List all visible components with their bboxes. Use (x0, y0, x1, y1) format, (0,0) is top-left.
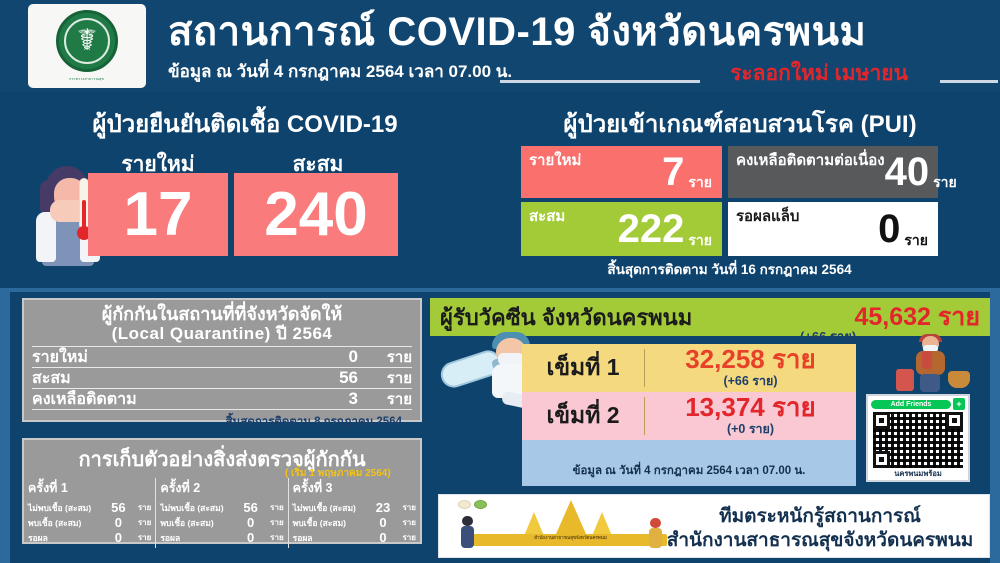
lq-row-value: 3 (304, 389, 358, 409)
dose-label: เข็มที่ 2 (522, 398, 644, 434)
sample-row-value: 56 (105, 500, 131, 515)
data-timestamp: ข้อมูล ณ วันที่ 4 กรกฎาคม 2564 เวลา 07.0… (168, 58, 512, 85)
dose-figures: 32,258 ราย (+66 ราย) (645, 346, 856, 390)
qr-card-header: Add Friends + (868, 396, 968, 410)
sample-row-label: รอผล (293, 531, 370, 545)
caduceus-glyph: ☤ (77, 26, 97, 56)
table-row: รายใหม่ 0 ราย (32, 346, 412, 367)
pui-remaining-value: 40 (885, 152, 930, 192)
add-friends-button[interactable]: Add Friends (871, 400, 951, 409)
sample-row-unit: ราย (131, 501, 151, 514)
vaccine-banner-value: 45,632 ราย (854, 297, 980, 337)
dose-value: 32,258 ราย (685, 344, 816, 374)
local-quarantine-title-line2: (Local Quarantine) ปี 2564 (24, 324, 420, 343)
dose-value: 13,374 ราย (685, 392, 816, 422)
sample-row-unit: ราย (396, 501, 416, 514)
lq-row-label: คงเหลือติดตาม (32, 387, 304, 412)
table-row: คงเหลือติดตาม 3 ราย (32, 388, 412, 409)
table-row: เข็มที่ 1 32,258 ราย (+66 ราย) (522, 344, 856, 392)
round-header: ครั้งที่ 1 (28, 478, 151, 498)
list-item: ไม่พบเชื้อ (สะสม) 56 ราย (160, 500, 283, 515)
sample-row-value: 0 (105, 530, 131, 545)
local-quarantine-footer: สิ้นสุดการติดตาม 8 กรกฎาคม 2564 (32, 409, 412, 431)
lq-row-value: 0 (304, 347, 358, 367)
pui-remaining-unit: ราย (933, 172, 957, 194)
sample-round-2: ครั้งที่ 2 ไม่พบเชื้อ (สะสม) 56 ราย พบเช… (155, 478, 287, 548)
pui-new-label: รายใหม่ (529, 148, 581, 172)
sample-row-value: 56 (238, 500, 264, 515)
sample-row-label: รอผล (28, 531, 105, 545)
local-quarantine-panel: ผู้กักกันในสถานที่ที่จังหวัดจัดให้ (Loca… (22, 298, 422, 422)
list-item: รอผล 0 ราย (293, 530, 416, 545)
sample-collection-panel: การเก็บตัวอย่างสิ่งส่งตรวจผู้กักกัน ครั้… (22, 438, 422, 544)
pui-remaining-card: คงเหลือติดตามต่อเนื่อง 40 ราย (728, 146, 938, 198)
local-quarantine-rows: รายใหม่ 0 ราย สะสม 56 ราย คงเหลือติดตาม … (32, 346, 412, 409)
dose-delta: (+0 ราย) (727, 422, 774, 436)
vaccine-banner-label: ผู้รับวัคซีน จังหวัดนครพนม (440, 300, 692, 335)
pui-cumulative-value: 222 (618, 209, 685, 249)
list-item: รอผล 0 ราย (28, 530, 151, 545)
left-edge-stripe (0, 292, 10, 563)
footer-line-2: สำนักงานสาธารณสุขจังหวัดนครพนม (660, 529, 980, 553)
qr-code-icon[interactable] (873, 412, 963, 468)
sample-row-unit: ราย (396, 516, 416, 529)
pui-new-unit: ราย (688, 172, 712, 194)
sample-row-unit: ราย (264, 531, 284, 544)
sample-row-unit: ราย (131, 516, 151, 529)
infographic-canvas: ☤ กระทรวงสาธารณสุข สถานการณ์ COVID-19 จั… (0, 0, 1000, 563)
sample-round-3: ครั้งที่ 3 ไม่พบเชื้อ (สะสม) 23 ราย พบเช… (288, 478, 420, 548)
sample-row-value: 0 (105, 515, 131, 530)
section-divider (0, 288, 1000, 292)
confirmed-heading: ผู้ป่วยยืนยันติดเชื้อ COVID-19 (10, 104, 480, 143)
table-row: สะสม 56 ราย (32, 367, 412, 388)
dose-label: เข็มที่ 1 (522, 350, 644, 386)
logo-caption: กระทรวงสาธารณสุข (69, 75, 104, 81)
list-item: ไม่พบเชื้อ (สะสม) 56 ราย (28, 500, 151, 515)
pui-waiting-value: 0 (878, 209, 900, 249)
sample-row-unit: ราย (396, 531, 416, 544)
sample-row-unit: ราย (264, 516, 284, 529)
lq-row-value: 56 (304, 368, 358, 388)
ministry-logo: ☤ กระทรวงสาธารณสุข (28, 4, 146, 88)
list-item: พบเชื้อ (สะสม) 0 ราย (28, 515, 151, 530)
pui-heading: ผู้ป่วยเข้าเกณฑ์สอบสวนโรค (PUI) (500, 104, 980, 143)
pui-new-card: รายใหม่ 7 ราย (521, 146, 722, 198)
vaccine-info-bar: ข้อมูล ณ วันที่ 4 กรกฎาคม 2564 เวลา 07.0… (522, 440, 856, 486)
pui-cumulative-label: สะสม (529, 204, 565, 228)
traveler-illustration (896, 336, 972, 396)
confirmed-new-value: 17 (88, 173, 228, 256)
pui-footer-note: สิ้นสุดการติดตาม วันที่ 16 กรกฎาคม 2564 (521, 258, 938, 280)
round-header: ครั้งที่ 3 (293, 478, 416, 498)
pui-cumulative-card: สะสม 222 ราย (521, 202, 722, 256)
page-title: สถานการณ์ COVID-19 จังหวัดนครพนม (168, 8, 958, 56)
qr-caption: นครพนมพร้อม (868, 468, 968, 480)
sample-row-label: พบเชื้อ (สะสม) (28, 516, 105, 530)
sample-row-label: ไม่พบเชื้อ (สะสม) (28, 501, 105, 515)
local-quarantine-title-line1: ผู้กักกันในสถานที่ที่จังหวัดจัดให้ (24, 300, 420, 324)
sample-row-value: 0 (238, 515, 264, 530)
dose-figures: 13,374 ราย (+0 ราย) (645, 394, 856, 438)
sample-row-value: 23 (370, 500, 396, 515)
sample-row-value: 0 (370, 515, 396, 530)
table-row: เข็มที่ 2 13,374 ราย (+0 ราย) (522, 392, 856, 440)
lq-row-unit: ราย (358, 387, 412, 411)
line-qr-card[interactable]: Add Friends + นครพนมพร้อม (866, 394, 970, 482)
list-item: รอผล 0 ราย (160, 530, 283, 545)
provincial-health-office-emblem: สำนักงานสาธารณสุขจังหวัดนครพนม (452, 500, 682, 554)
list-item: พบเชื้อ (สะสม) 0 ราย (293, 515, 416, 530)
sample-row-label: พบเชื้อ (สะสม) (293, 516, 370, 530)
sample-collection-note: ( เริ่ม 1 พฤษภาคม 2564) (285, 466, 391, 481)
pui-waiting-label: รอผลแล็บ (736, 204, 799, 228)
header-rule-left (500, 80, 700, 83)
dose-delta: (+66 ราย) (723, 374, 777, 388)
sample-row-unit: ราย (131, 531, 151, 544)
list-item: ไม่พบเชื้อ (สะสม) 23 ราย (293, 500, 416, 515)
footer-line-1: ทีมตระหนักรู้สถานการณ์ (660, 505, 980, 529)
footer-text: ทีมตระหนักรู้สถานการณ์ สำนักงานสาธารณสุข… (660, 505, 980, 553)
sample-row-value: 0 (370, 530, 396, 545)
emblem-caption: สำนักงานสาธารณสุขจังหวัดนครพนม (498, 535, 643, 540)
sample-row-label: รอผล (160, 531, 237, 545)
pui-cumulative-unit: ราย (688, 230, 712, 252)
caduceus-icon: ☤ (56, 10, 118, 72)
header-banner: ☤ กระทรวงสาธารณสุข สถานการณ์ COVID-19 จั… (0, 0, 1000, 92)
sample-round-1: ครั้งที่ 1 ไม่พบเชื้อ (สะสม) 56 ราย พบเช… (24, 478, 155, 548)
sample-row-value: 0 (238, 530, 264, 545)
vaccine-info-text: ข้อมูล ณ วันที่ 4 กรกฎาคม 2564 เวลา 07.0… (573, 462, 806, 480)
wave-label: ระลอกใหม่ เมษายน (700, 57, 938, 90)
right-edge-stripe (990, 292, 1000, 563)
plus-icon[interactable]: + (953, 398, 965, 410)
pui-waiting-card: รอผลแล็บ 0 ราย (728, 202, 938, 256)
sample-row-label: ไม่พบเชื้อ (สะสม) (160, 501, 237, 515)
vaccine-banner: ผู้รับวัคซีน จังหวัดนครพนม 45,632 ราย (430, 298, 990, 336)
header-rule-right (940, 80, 998, 83)
vaccine-dose-table: เข็มที่ 1 32,258 ราย (+66 ราย) เข็มที่ 2… (522, 344, 856, 440)
round-header: ครั้งที่ 2 (160, 478, 283, 498)
sample-row-unit: ราย (264, 501, 284, 514)
pui-waiting-unit: ราย (904, 230, 928, 252)
pui-new-value: 7 (662, 152, 684, 192)
sample-collection-columns: ครั้งที่ 1 ไม่พบเชื้อ (สะสม) 56 ราย พบเช… (24, 478, 420, 548)
pui-remaining-label: คงเหลือติดตามต่อเนื่อง (736, 148, 885, 172)
sample-row-label: พบเชื้อ (สะสม) (160, 516, 237, 530)
confirmed-cumulative-value: 240 (234, 173, 398, 256)
sample-row-label: ไม่พบเชื้อ (สะสม) (293, 501, 370, 515)
list-item: พบเชื้อ (สะสม) 0 ราย (160, 515, 283, 530)
